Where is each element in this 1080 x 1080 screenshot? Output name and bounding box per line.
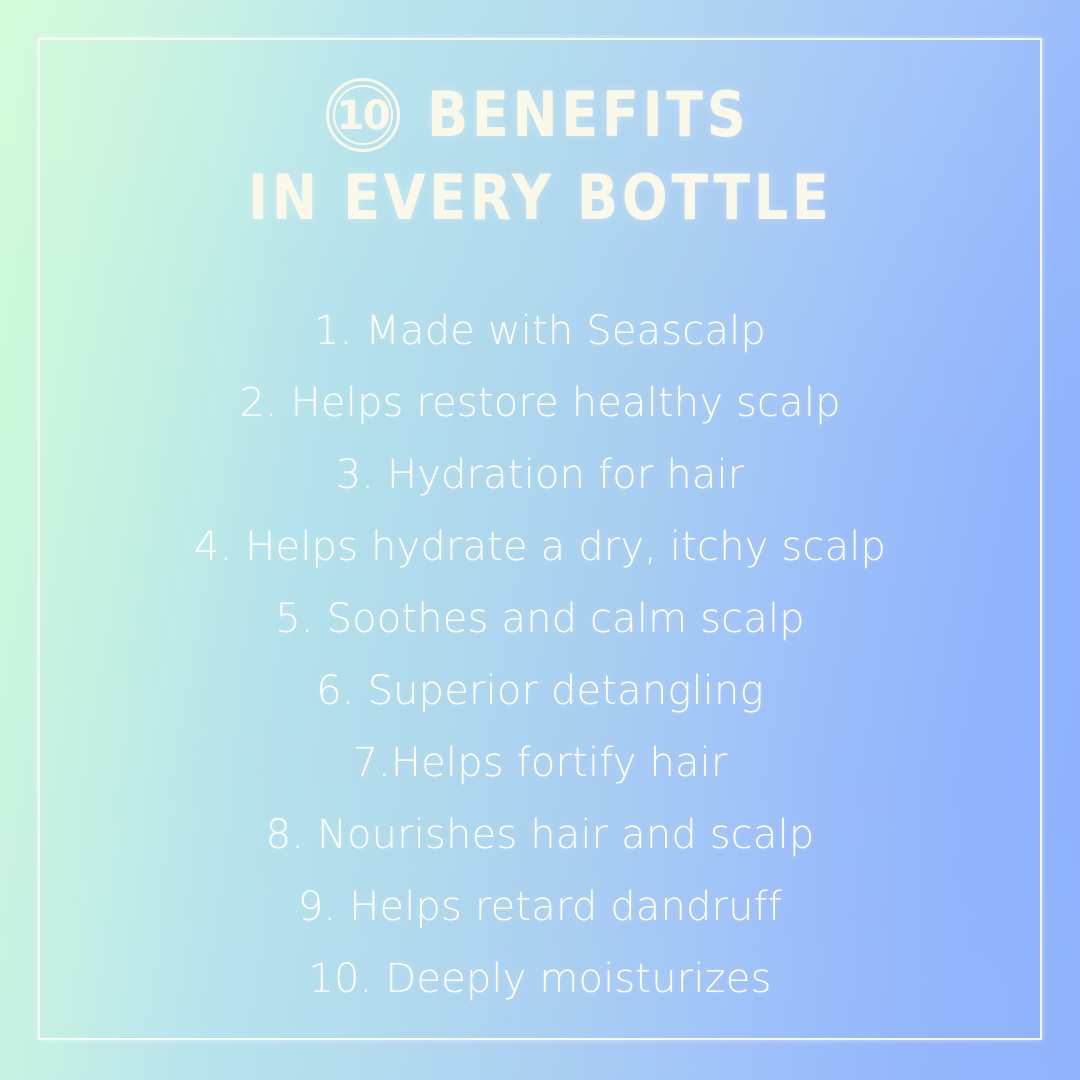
list-item: 2. Helps restore healthy scalp [0, 367, 1080, 439]
list-item: 7.Helps fortify hair [0, 727, 1080, 799]
list-item: 8. Nourishes hair and scalp [0, 799, 1080, 871]
heading-in-every-bottle-text: IN EVERY BOTTLE [248, 168, 832, 229]
poster-heading: 10 BENEFITS IN EVERY BOTTLE [0, 78, 1080, 229]
number-badge-icon: 10 [326, 78, 400, 152]
list-item: 9. Helps retard dandruff [0, 871, 1080, 943]
heading-line-1: 10 BENEFITS [0, 78, 1080, 152]
list-item: 4. Helps hydrate a dry, itchy scalp [0, 511, 1080, 583]
list-item: 5. Soothes and calm scalp [0, 583, 1080, 655]
list-item: 1. Made with Seascalp [0, 295, 1080, 367]
heading-benefits-text: BENEFITS [427, 85, 749, 146]
poster-content: 10 BENEFITS IN EVERY BOTTLE 1. Made with… [0, 0, 1080, 1080]
heading-line-2: IN EVERY BOTTLE [0, 168, 1080, 229]
badge-number-label: 10 [337, 96, 389, 136]
list-item: 3. Hydration for hair [0, 439, 1080, 511]
list-item: 10. Deeply moisturizes [0, 943, 1080, 1015]
benefits-poster: 10 BENEFITS IN EVERY BOTTLE 1. Made with… [0, 0, 1080, 1080]
list-item: 6. Superior detangling [0, 655, 1080, 727]
benefits-list: 1. Made with Seascalp 2. Helps restore h… [0, 295, 1080, 1015]
